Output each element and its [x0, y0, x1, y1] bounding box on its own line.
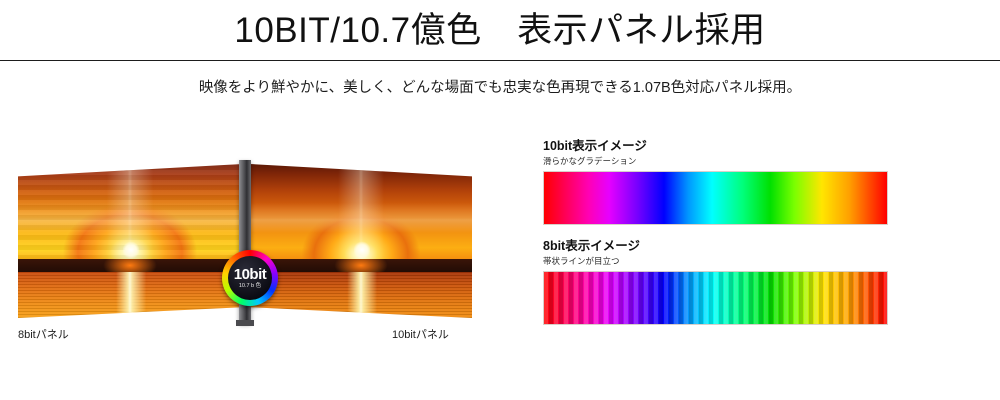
demo-note-10bit: 滑らかなグラデーション: [543, 157, 888, 166]
demo-note-8bit: 帯状ラインが目立つ: [543, 257, 888, 266]
sun-core: [123, 241, 139, 259]
panel-stand: [236, 320, 254, 326]
panel-comparison-figure: 8bitパネル 10bitパネル 10bit 10.7 b 色: [0, 128, 510, 353]
caption-8bit-panel: 8bitパネル: [18, 326, 69, 342]
badge-title: 10bit: [234, 267, 267, 282]
demo-heading-10bit: 10bit表示イメージ: [543, 140, 888, 154]
badge-inner-disc: 10bit 10.7 b 色: [228, 256, 272, 300]
banding-overlay: [544, 272, 887, 324]
gradient-bar-8bit-banded: [543, 271, 888, 325]
page-title: 10BIT/10.7億色 表示パネル採用: [0, 2, 1000, 53]
rainbow-ring-icon: 10bit 10.7 b 色: [222, 250, 278, 306]
sunset-photo-8bit: [18, 164, 242, 318]
ten-bit-badge: 10bit 10.7 b 色: [222, 258, 284, 304]
page-subtitle: 映像をより鮮やかに、美しく、どんな場面でも忠実な色再現できる1.07B色対応パネ…: [0, 76, 1000, 97]
water-layer: [18, 272, 242, 318]
header-divider: [0, 60, 1000, 61]
gradient-bar-10bit-smooth: [543, 171, 888, 225]
demo-heading-8bit: 8bit表示イメージ: [543, 240, 888, 254]
badge-subtitle: 10.7 b 色: [239, 284, 261, 290]
header: 10BIT/10.7億色 表示パネル採用 映像をより鮮やかに、美しく、どんな場面…: [0, 0, 1000, 62]
gradient-demo-section: 10bit表示イメージ 滑らかなグラデーション 8bit表示イメージ 帯状ライン…: [543, 140, 893, 355]
panel-image-8bit: [18, 164, 242, 318]
demo-block-8bit: 8bit表示イメージ 帯状ラインが目立つ: [543, 240, 888, 325]
sun-core: [354, 241, 370, 259]
caption-10bit-panel: 10bitパネル: [392, 326, 449, 342]
demo-block-10bit: 10bit表示イメージ 滑らかなグラデーション: [543, 140, 888, 225]
